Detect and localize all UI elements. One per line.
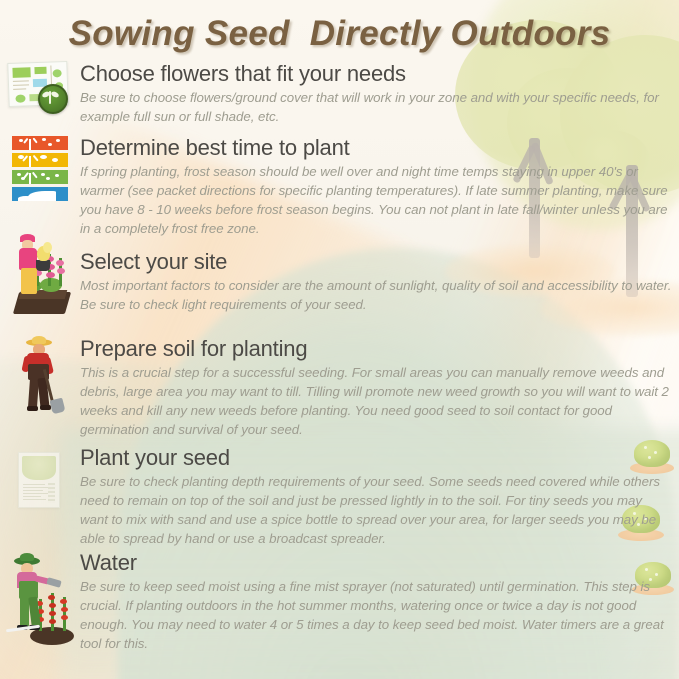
farmer-with-shovel-icon bbox=[14, 337, 82, 429]
step-heading: Choose flowers that fit your needs bbox=[80, 62, 673, 87]
step-heading: Prepare soil for planting bbox=[80, 337, 673, 362]
spring-bar bbox=[12, 170, 68, 184]
garden-plan-icon bbox=[8, 62, 76, 118]
step-body: Be sure to keep seed moist using a fine … bbox=[80, 577, 673, 654]
step-heading: Select your site bbox=[80, 250, 673, 275]
gardener-planting-icon bbox=[10, 230, 78, 322]
magnifier-icon bbox=[38, 84, 68, 114]
gardener-watering-icon bbox=[6, 555, 74, 655]
step-body: Most important factors to consider are t… bbox=[80, 276, 673, 314]
step-body: This is a crucial step for a successful … bbox=[80, 363, 673, 440]
step-heading: Plant your seed bbox=[80, 446, 673, 471]
four-seasons-icon bbox=[12, 136, 80, 201]
autumn-bar bbox=[12, 136, 68, 150]
step-body: Be sure to choose flowers/ground cover t… bbox=[80, 88, 673, 126]
step-body: Be sure to check planting depth requirem… bbox=[80, 472, 673, 549]
step-heading: Water bbox=[80, 551, 673, 576]
step-body: If spring planting, frost season should … bbox=[80, 162, 673, 239]
summer-bar bbox=[12, 153, 68, 167]
page-title: Sowing Seed Directly Outdoors bbox=[0, 14, 679, 54]
infographic-poster: Sowing Seed Directly Outdoors bbox=[0, 0, 679, 679]
seed-packet-icon bbox=[18, 452, 86, 508]
winter-bar bbox=[12, 187, 68, 201]
step-heading: Determine best time to plant bbox=[80, 136, 673, 161]
